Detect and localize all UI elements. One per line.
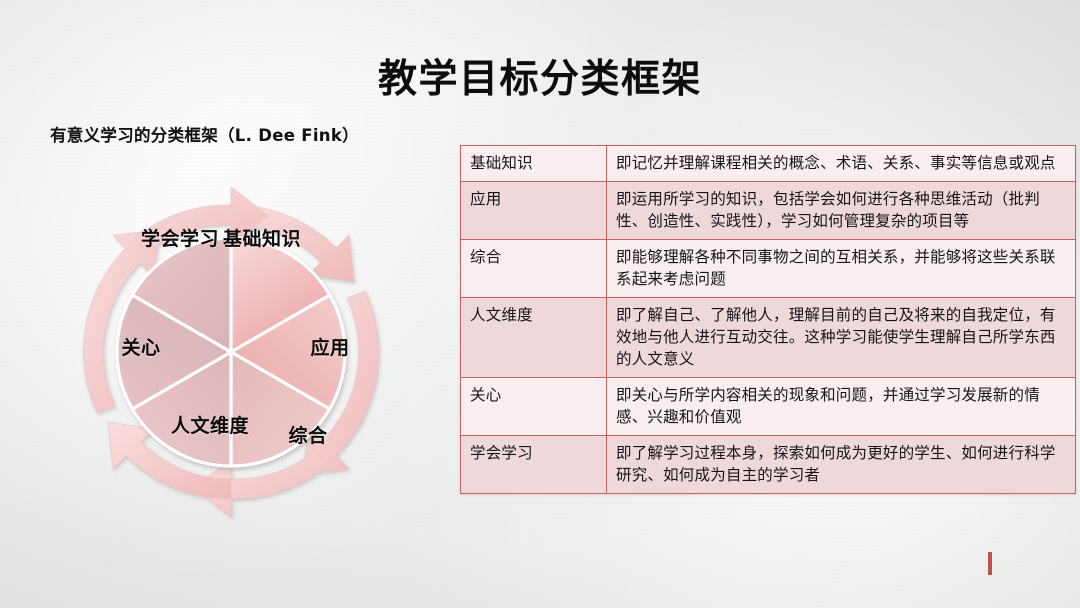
table-row: 人文维度即了解自己、了解他人，理解目前的自己及将来的自我定位，有效地与他人进行互…: [461, 298, 1076, 378]
slide-canvas: 教学目标分类框架 有意义学习的分类框架（L. Dee Fink）: [0, 0, 1080, 608]
table-cell-category: 学会学习: [461, 436, 607, 494]
table-cell-category: 基础知识: [461, 146, 607, 182]
table-row: 学会学习即了解学习过程本身，探索如何成为更好的学生、如何进行科学研究、如何成为自…: [461, 436, 1076, 494]
table-row: 基础知识即记忆并理解课程相关的概念、术语、关系、事实等信息或观点: [461, 146, 1076, 182]
taxonomy-definitions-table: 基础知识即记忆并理解课程相关的概念、术语、关系、事实等信息或观点应用即运用所学习…: [460, 145, 1076, 494]
table-row: 应用即运用所学习的知识，包括学会如何进行各种思维活动（批判性、创造性、实践性），…: [461, 182, 1076, 240]
diagram-subtitle: 有意义学习的分类框架（L. Dee Fink）: [50, 122, 359, 146]
table-cell-description: 即记忆并理解课程相关的概念、术语、关系、事实等信息或观点: [607, 146, 1076, 182]
text-caret-mark: [988, 552, 992, 575]
taxonomy-wheel-svg: [68, 185, 398, 520]
page-title: 教学目标分类框架: [0, 48, 1080, 104]
table-cell-category: 人文维度: [461, 298, 607, 378]
table-cell-description: 即了解自己、了解他人，理解目前的自己及将来的自我定位，有效地与他人进行互动交往。…: [607, 298, 1076, 378]
taxonomy-wheel-diagram: 基础知识 应用 综合 人文维度 关心 学会学习: [68, 185, 398, 520]
table-cell-description: 即运用所学习的知识，包括学会如何进行各种思维活动（批判性、创造性、实践性），学习…: [607, 182, 1076, 240]
table-cell-category: 应用: [461, 182, 607, 240]
definitions-table-container: 基础知识即记忆并理解课程相关的概念、术语、关系、事实等信息或观点应用即运用所学习…: [460, 145, 1037, 494]
table-row: 关心即关心与所学内容相关的现象和问题，并通过学习发展新的情感、兴趣和价值观: [461, 378, 1076, 436]
table-row: 综合即能够理解各种不同事物之间的互相关系，并能够将这些关系联系起来考虑问题: [461, 240, 1076, 298]
wheel-segments: [117, 238, 345, 466]
table-cell-category: 关心: [461, 378, 607, 436]
table-cell-description: 即能够理解各种不同事物之间的互相关系，并能够将这些关系联系起来考虑问题: [607, 240, 1076, 298]
table-cell-category: 综合: [461, 240, 607, 298]
table-cell-description: 即关心与所学内容相关的现象和问题，并通过学习发展新的情感、兴趣和价值观: [607, 378, 1076, 436]
table-cell-description: 即了解学习过程本身，探索如何成为更好的学生、如何进行科学研究、如何成为自主的学习…: [607, 436, 1076, 494]
